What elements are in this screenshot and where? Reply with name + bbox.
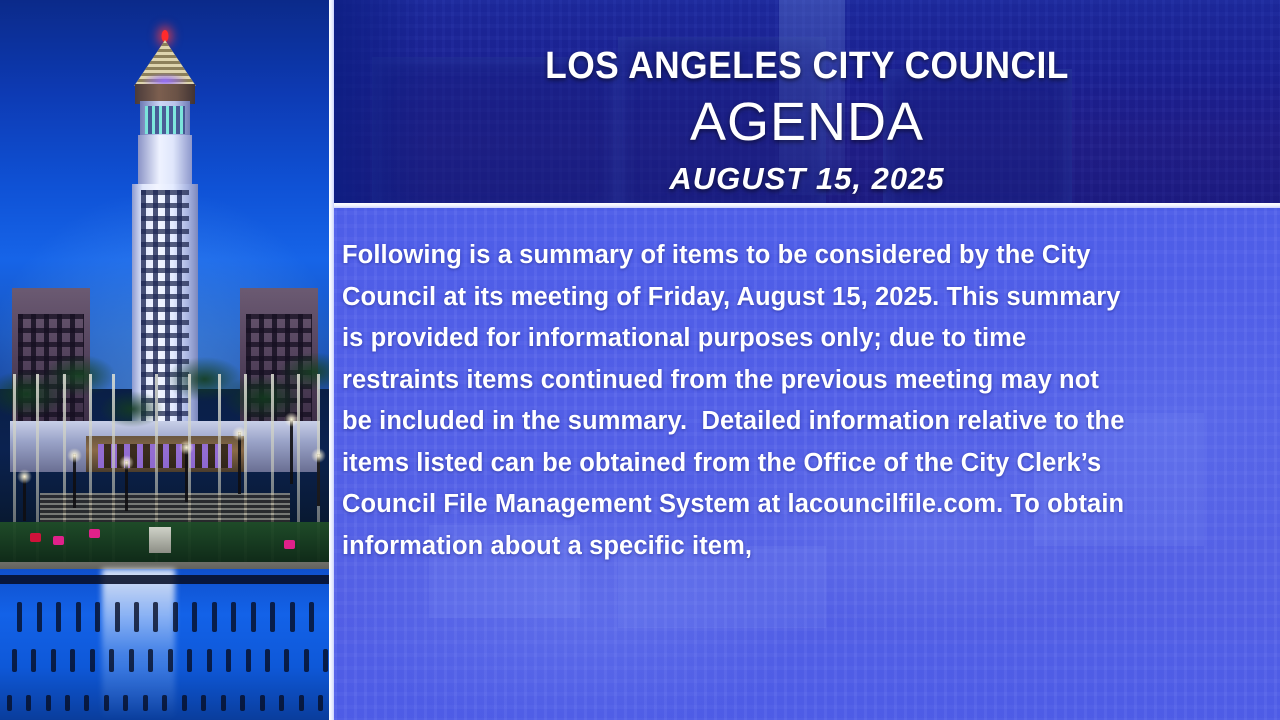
tower-colonnade [140, 101, 190, 140]
agenda-header-panel: LOS ANGELES CITY COUNCIL AGENDA AUGUST 1… [334, 0, 1280, 203]
page-title-agenda: AGENDA [334, 85, 1280, 149]
page-title-organization: LOS ANGELES CITY COUNCIL [367, 0, 1247, 85]
horizontal-divider [334, 203, 1280, 208]
vertical-divider [329, 0, 334, 720]
plaza-steps [40, 493, 291, 522]
pool-bollards [0, 569, 330, 720]
city-hall-photo [0, 0, 330, 720]
agenda-summary-panel: Following is a summary of items to be co… [334, 208, 1280, 720]
agenda-summary-text: Following is a summary of items to be co… [334, 208, 1164, 567]
broadcast-slide: LOS ANGELES CITY COUNCIL AGENDA AUGUST 1… [0, 0, 1280, 720]
plaza-monument [149, 527, 171, 553]
header-title-group: LOS ANGELES CITY COUNCIL AGENDA AUGUST 1… [334, 0, 1280, 194]
page-title-date: AUGUST 15, 2025 [334, 149, 1280, 194]
reflecting-pool [0, 569, 330, 720]
tower-upper-setback [138, 135, 192, 190]
